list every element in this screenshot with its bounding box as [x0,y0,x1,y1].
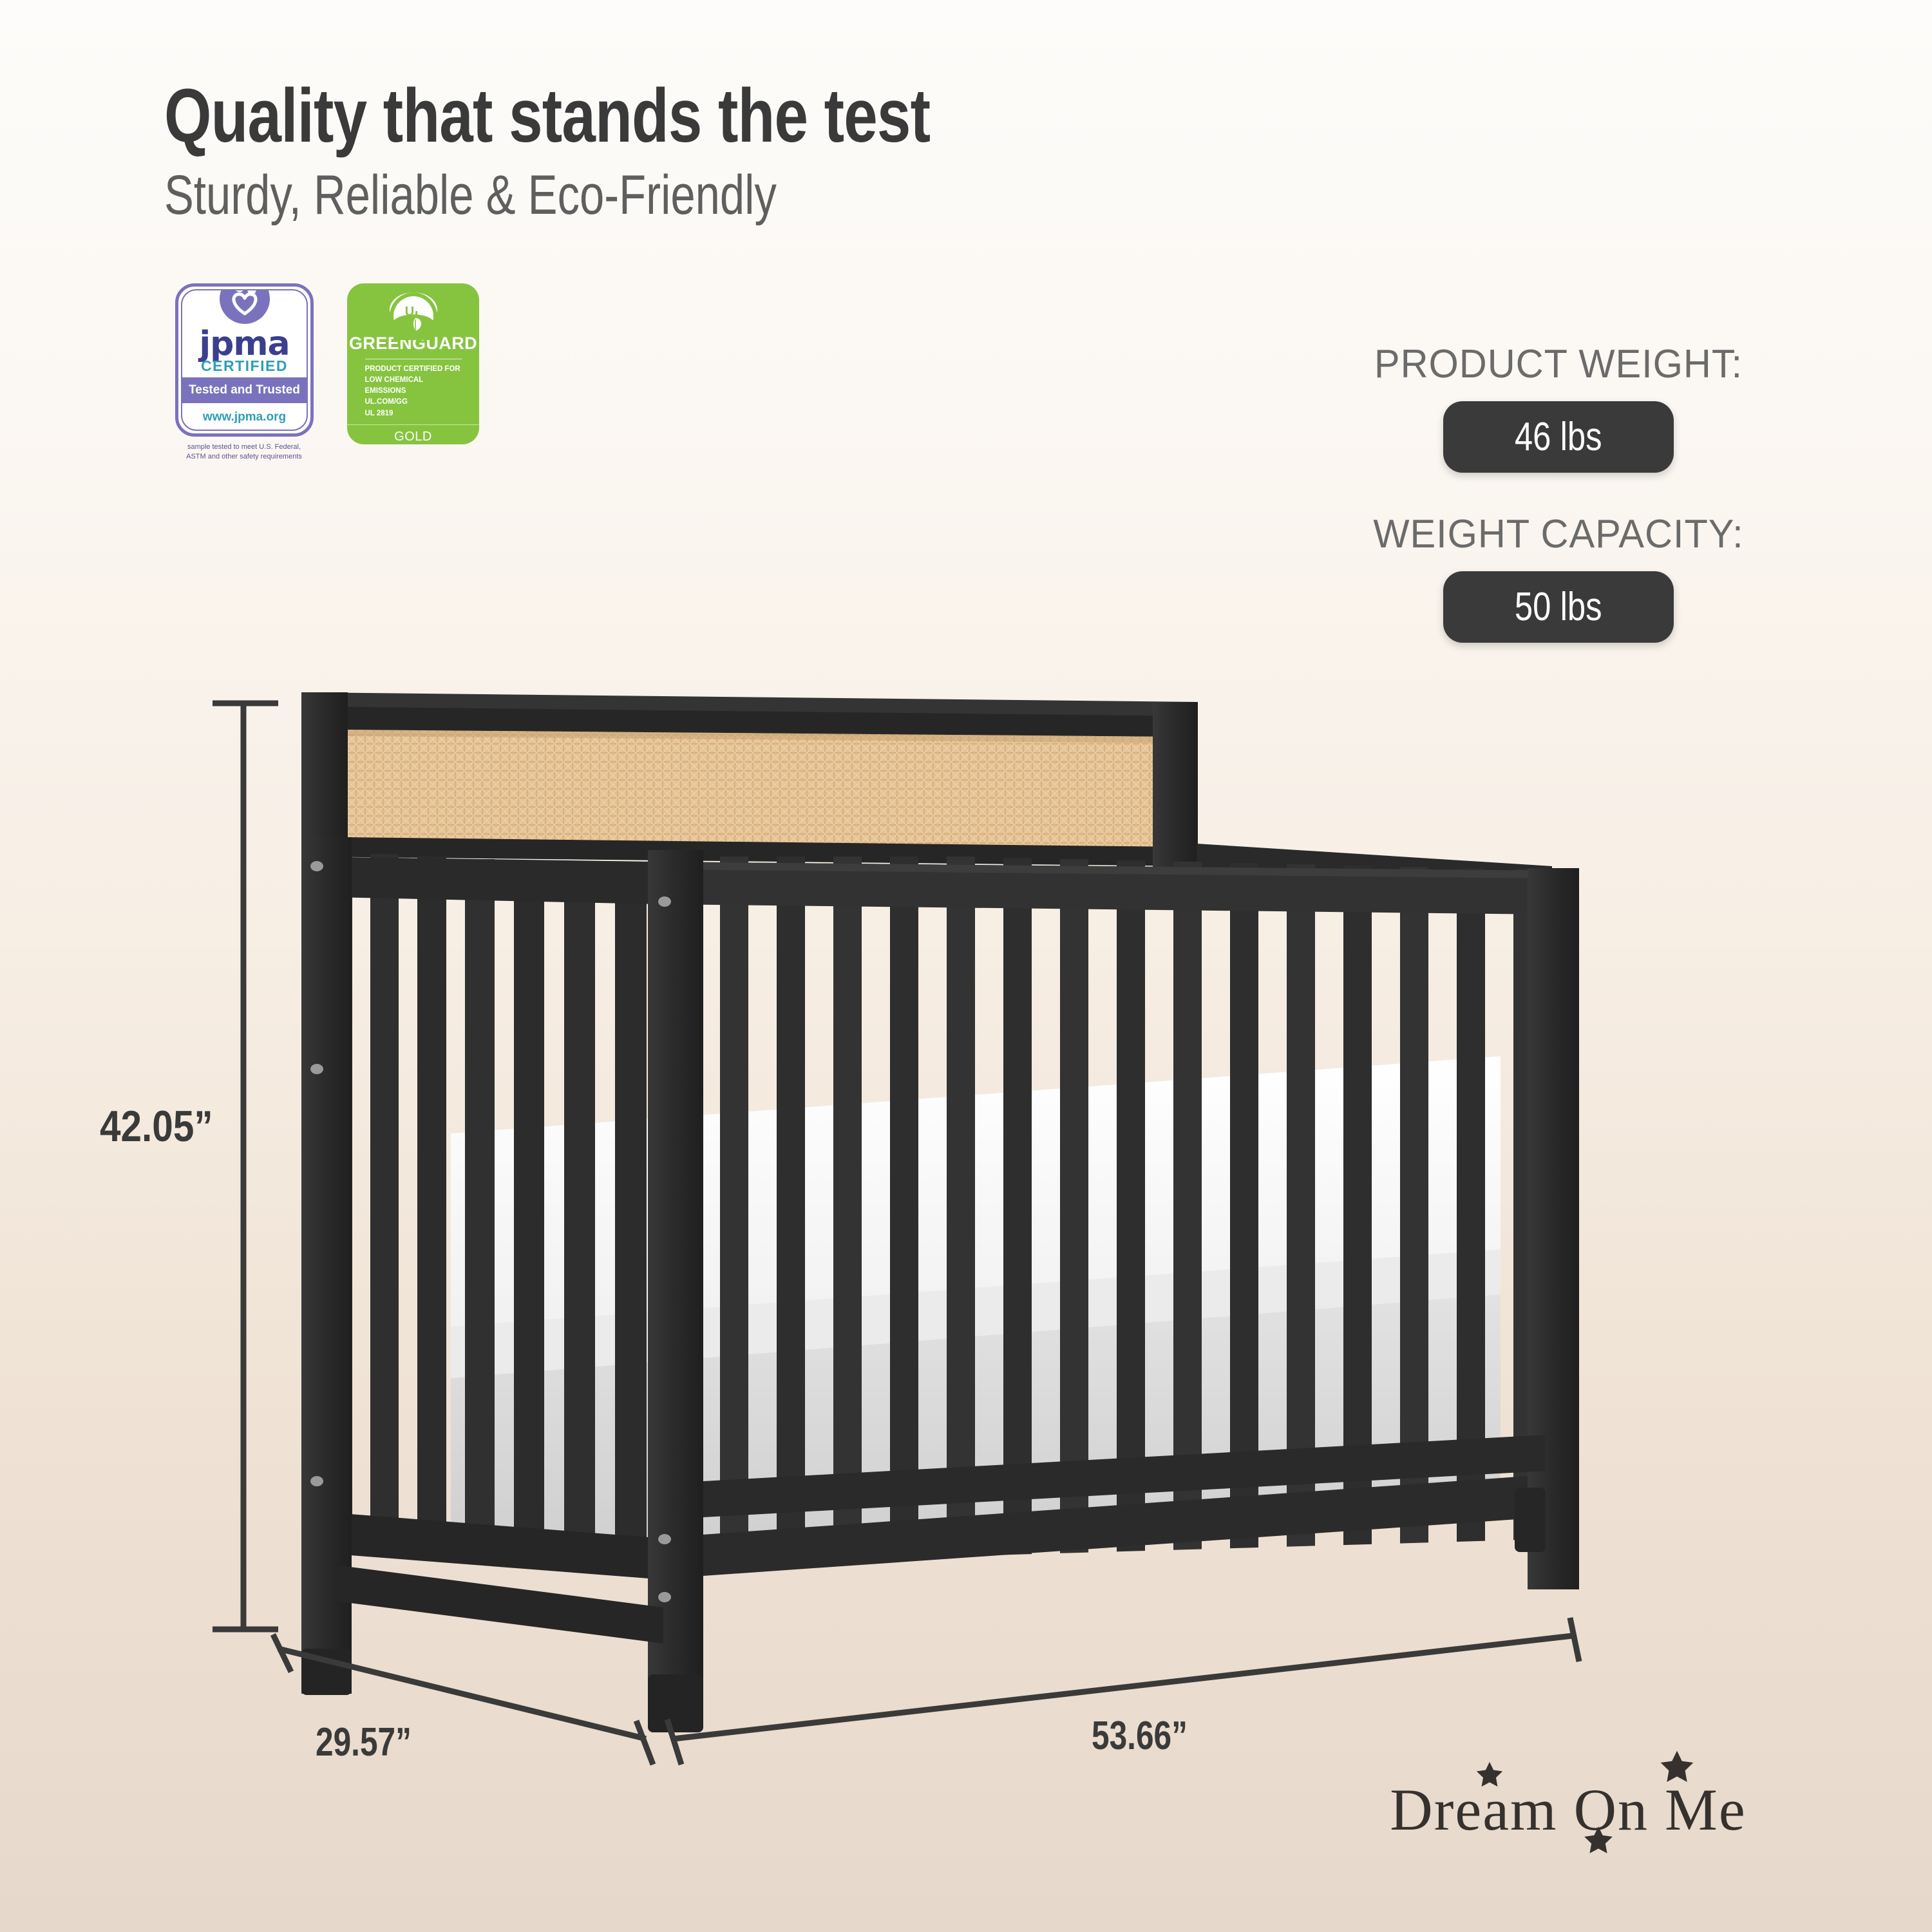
leg-front-center [648,850,703,1719]
height-dimension-label: 42.05” [100,1101,213,1151]
crib-headboard [301,692,1198,871]
brand-logo: Dream On Me [1323,1748,1813,1871]
leg-front-left [301,837,352,1694]
star-icon [1658,1748,1696,1786]
crib-product-image [0,0,1932,1932]
width-dimension-label: 53.66” [1092,1713,1188,1759]
leg-right [1528,868,1579,1589]
star-icon [1582,1824,1615,1857]
depth-dimension-label: 29.57” [316,1719,412,1765]
rattan-panel [345,730,1177,847]
star-icon [1475,1760,1504,1790]
